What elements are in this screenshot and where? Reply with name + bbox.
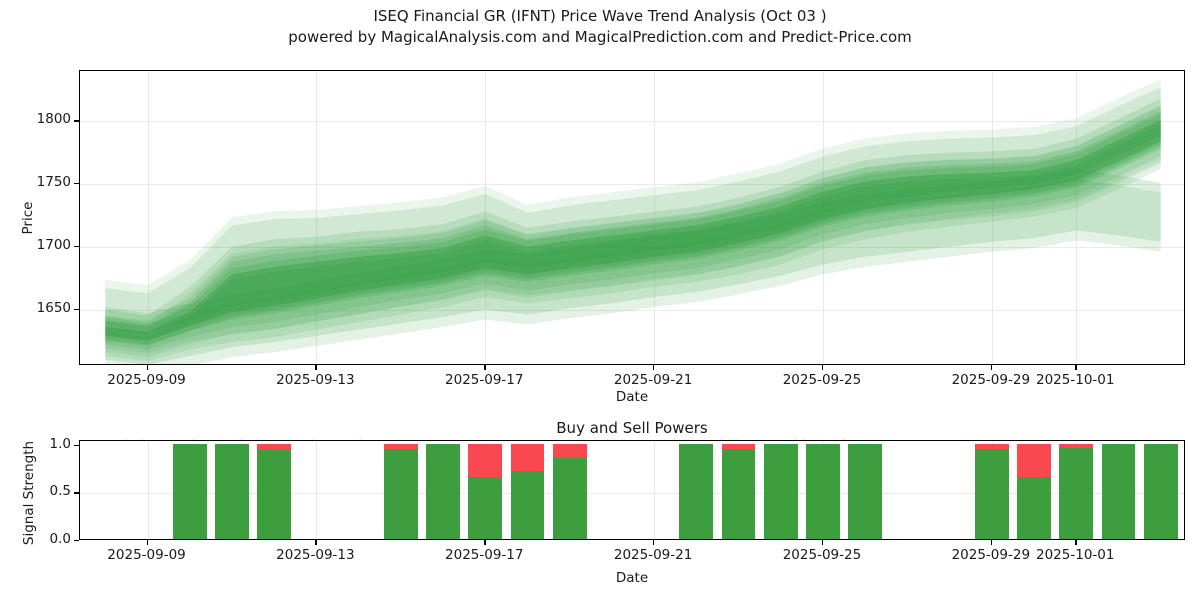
price-xtick-mark [991, 365, 992, 370]
signal-ytick-mark [74, 445, 79, 446]
price-ytick-label: 1650 [11, 300, 71, 316]
price-ytick-mark [74, 120, 79, 121]
price-xtick-label: 2025-09-09 [92, 372, 202, 388]
price-wave-plot [79, 70, 1185, 365]
buy-power-segment [384, 449, 418, 539]
price-xtick-mark [484, 365, 485, 370]
signal-bar[interactable] [679, 444, 713, 539]
signal-bar[interactable] [468, 444, 502, 539]
sell-power-segment [553, 444, 587, 458]
price-ytick-label: 1800 [11, 111, 71, 127]
sell-power-segment [257, 444, 291, 451]
signal-bar[interactable] [384, 444, 418, 539]
buy-power-segment [553, 458, 587, 539]
price-ytick-mark [74, 183, 79, 184]
price-xtick-mark [315, 365, 316, 370]
sell-power-segment [384, 444, 418, 449]
buy-power-segment [511, 471, 545, 539]
signal-bar[interactable] [215, 444, 249, 539]
signal-xtick-mark [653, 540, 654, 545]
price-wave-bands [80, 71, 1185, 365]
price-ytick-mark [74, 246, 79, 247]
buy-power-segment [257, 450, 291, 539]
buy-sell-powers-plot [79, 440, 1185, 540]
signal-xtick-mark [147, 540, 148, 545]
signal-xlabel: Date [582, 570, 682, 586]
buy-power-segment [679, 444, 713, 539]
sell-power-segment [975, 444, 1009, 450]
signal-xtick-label: 2025-09-25 [767, 547, 877, 563]
price-xtick-label: 2025-09-25 [767, 372, 877, 388]
signal-xtick-label: 2025-09-13 [260, 547, 370, 563]
buy-power-segment [1059, 448, 1093, 539]
price-xlabel: Date [582, 389, 682, 405]
buy-power-segment [975, 449, 1009, 539]
buy-power-segment [1102, 444, 1136, 539]
signal-bars-group [80, 441, 1184, 539]
signal-bar[interactable] [511, 444, 545, 539]
signal-bar[interactable] [553, 444, 587, 539]
signal-bar[interactable] [722, 444, 756, 539]
price-ylabel: Price [20, 178, 36, 258]
sell-power-segment [468, 444, 502, 477]
page-title: ISEQ Financial GR (IFNT) Price Wave Tren… [0, 6, 1200, 27]
buy-power-segment [426, 444, 460, 539]
signal-xtick-label: 2025-10-01 [1020, 547, 1130, 563]
signal-xtick-mark [991, 540, 992, 545]
buy-power-segment [215, 444, 249, 539]
buy-power-segment [764, 444, 798, 539]
buy-power-segment [722, 449, 756, 539]
buy-power-segment [806, 444, 840, 539]
signal-xtick-label: 2025-09-09 [92, 547, 202, 563]
signal-ylabel: Signal Strength [21, 428, 37, 558]
signal-xtick-mark [1075, 540, 1076, 545]
page-subtitle: powered by MagicalAnalysis.com and Magic… [0, 27, 1200, 48]
price-xtick-label: 2025-10-01 [1020, 372, 1130, 388]
buy-power-segment [173, 444, 207, 539]
signal-xtick-mark [484, 540, 485, 545]
price-xtick-mark [147, 365, 148, 370]
price-xtick-label: 2025-09-13 [260, 372, 370, 388]
signal-ytick-mark [74, 492, 79, 493]
signal-bar[interactable] [173, 444, 207, 539]
sell-power-segment [722, 444, 756, 449]
buy-power-segment [1144, 444, 1178, 539]
signal-xtick-label: 2025-09-21 [598, 547, 708, 563]
price-xtick-mark [653, 365, 654, 370]
price-ytick-mark [74, 309, 79, 310]
signal-xtick-label: 2025-09-17 [429, 547, 539, 563]
price-xtick-mark [1075, 365, 1076, 370]
buy-power-segment [1017, 477, 1051, 539]
signal-bar[interactable] [975, 444, 1009, 539]
signal-bar[interactable] [1102, 444, 1136, 539]
signal-bar[interactable] [426, 444, 460, 539]
signal-bar[interactable] [764, 444, 798, 539]
sell-power-segment [511, 444, 545, 472]
signal-bar[interactable] [257, 444, 291, 539]
chart-page: ISEQ Financial GR (IFNT) Price Wave Tren… [0, 0, 1200, 600]
signal-bar[interactable] [848, 444, 882, 539]
price-xtick-mark [822, 365, 823, 370]
signal-bar[interactable] [1017, 444, 1051, 539]
signal-xtick-mark [822, 540, 823, 545]
buy-power-segment [468, 477, 502, 539]
title-block: ISEQ Financial GR (IFNT) Price Wave Tren… [0, 6, 1200, 48]
sell-power-segment [1059, 444, 1093, 448]
price-xtick-label: 2025-09-17 [429, 372, 539, 388]
signal-ytick-mark [74, 540, 79, 541]
buy-power-segment [848, 444, 882, 539]
signal-bar[interactable] [1144, 444, 1178, 539]
signal-bar[interactable] [1059, 444, 1093, 539]
price-xtick-label: 2025-09-21 [598, 372, 708, 388]
signal-bar[interactable] [806, 444, 840, 539]
signal-xtick-mark [315, 540, 316, 545]
sell-power-segment [1017, 444, 1051, 477]
signal-chart-title: Buy and Sell Powers [532, 419, 732, 437]
